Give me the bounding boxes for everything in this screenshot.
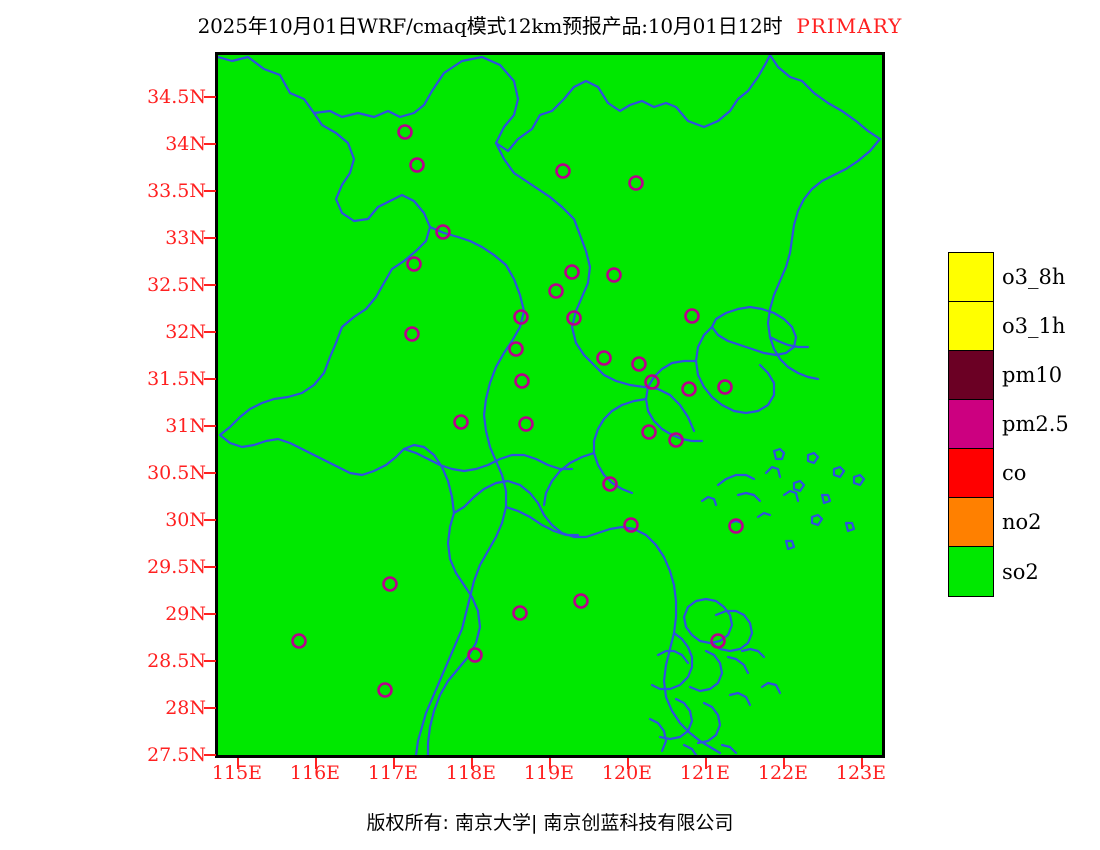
y-tick-label: 30.5N [128,462,206,484]
y-tick-label: 32.5N [128,274,206,296]
x-tick-label: 120E [592,762,662,784]
legend-swatch-co[interactable]: co [949,449,993,498]
y-tick-label: 31.5N [128,368,206,390]
x-tick-label: 122E [748,762,818,784]
legend-label: pm10 [1002,363,1062,387]
legend-swatch-pm25[interactable]: pm2.5 [949,400,993,449]
legend-label: o3_1h [1002,314,1065,338]
legend-label: o3_8h [1002,265,1065,289]
title-main-text: 2025年10月01日WRF/cmaq模式12km预报产品:10月01日12时 [198,14,783,38]
map-plot-frame[interactable] [215,52,885,758]
x-tick-label: 123E [826,762,896,784]
legend-swatch-o3-8h[interactable]: o3_8h [949,253,993,302]
y-tick-label: 33N [128,227,206,249]
map-background [218,55,882,755]
x-tick-label: 118E [436,762,506,784]
x-tick-label: 116E [280,762,350,784]
copyright-footer: 版权所有: 南京大学| 南京创蓝科技有限公司 [0,808,1100,835]
y-tick-label: 34.5N [128,86,206,108]
pollutant-legend: o3_8h o3_1h pm10 pm2.5 co no2 so2 [948,252,994,597]
x-tick-label: 119E [514,762,584,784]
legend-label: so2 [1002,560,1039,584]
title-primary-badge: PRIMARY [796,14,902,38]
x-tick-label: 115E [202,762,272,784]
legend-label: no2 [1002,510,1042,534]
page-title: 2025年10月01日WRF/cmaq模式12km预报产品:10月01日12时P… [0,10,1100,39]
y-tick-label: 32N [128,321,206,343]
x-tick-label: 121E [670,762,740,784]
legend-label: pm2.5 [1002,412,1069,436]
x-tick-label: 117E [358,762,428,784]
y-tick-label: 34N [128,133,206,155]
y-tick-label: 27.5N [128,744,206,766]
y-tick-label: 28.5N [128,650,206,672]
legend-swatch-o3-1h[interactable]: o3_1h [949,302,993,351]
legend-swatch-pm10[interactable]: pm10 [949,351,993,400]
y-tick-label: 28N [128,697,206,719]
legend-label: co [1002,461,1026,485]
y-tick-label: 31N [128,415,206,437]
y-tick-label: 30N [128,509,206,531]
legend-swatch-so2[interactable]: so2 [949,547,993,596]
map-canvas[interactable] [218,55,882,755]
y-tick-label: 29.5N [128,556,206,578]
legend-swatch-no2[interactable]: no2 [949,498,993,547]
y-tick-label: 29N [128,603,206,625]
y-tick-label: 33.5N [128,180,206,202]
